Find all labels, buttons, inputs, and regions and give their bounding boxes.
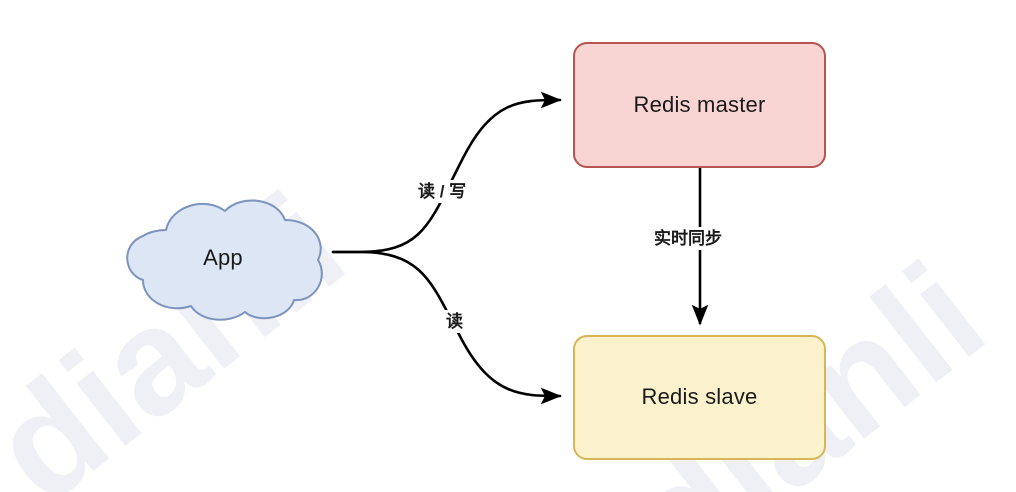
diagram-canvas: dianli dianli App Redi xyxy=(0,0,1016,492)
edge-label-realtime-sync: 实时同步 xyxy=(651,227,725,250)
edge-label-layer: 读 / 写 读 实时同步 xyxy=(0,0,1016,492)
edge-label-read: 读 xyxy=(443,310,466,333)
edge-label-read-write: 读 / 写 xyxy=(415,180,469,203)
